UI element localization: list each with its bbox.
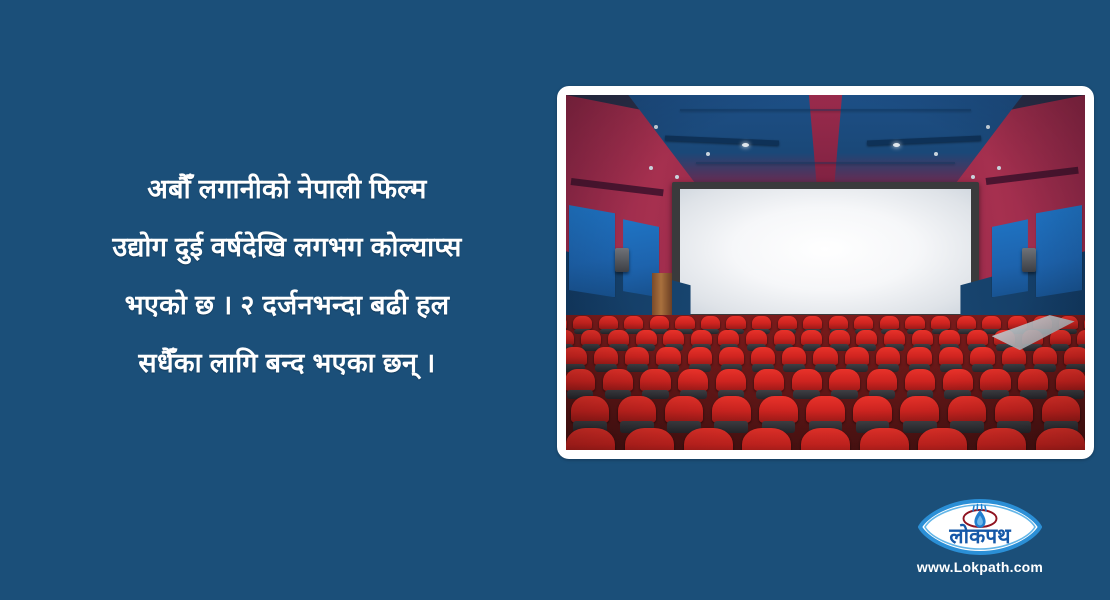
- site-logo[interactable]: लोकपथ www.Lokpath.com: [896, 498, 1064, 575]
- logo-brand-text: लोकपथ: [948, 523, 1012, 548]
- eye-with-flame-icon: लोकपथ: [918, 498, 1042, 556]
- photo-frame: [557, 86, 1094, 459]
- projection-screen: [680, 189, 972, 314]
- seat-row: [566, 428, 1085, 450]
- downlight-6: [893, 143, 900, 147]
- seat-row: [566, 396, 1085, 423]
- headline-line-4: सधैँका लागि बन्द भएका छन् ।: [22, 334, 552, 392]
- seat-row: [566, 369, 1085, 391]
- headline-line-1: अबौँ लगानीको नेपाली फिल्म: [22, 160, 552, 218]
- wall-fixture-right-2: [971, 175, 975, 179]
- seating-area: [566, 315, 1085, 450]
- cinema-hall-photo: [566, 95, 1085, 450]
- ceiling-grid-line-1: [680, 109, 971, 111]
- seat-row: [566, 316, 1085, 329]
- wall-fixture-right: [997, 166, 1001, 170]
- wall-fixture-left: [649, 166, 653, 170]
- speaker-right: [1022, 248, 1036, 272]
- seat-row: [566, 347, 1085, 365]
- acoustic-panel-left-far: [569, 205, 616, 297]
- ceiling-fixture-3: [706, 152, 710, 156]
- headline-line-3: भएको छ । २ दर्जनभन्दा बढी हल: [22, 276, 552, 334]
- headline-line-2: उद्योग दुई वर्षदेखि लगभग कोल्याप्स: [22, 218, 552, 276]
- screen-frame: [672, 182, 978, 324]
- logo-url-text[interactable]: www.Lokpath.com: [896, 559, 1064, 575]
- speaker-left: [615, 248, 629, 272]
- wall-fixture-left-2: [675, 175, 679, 179]
- ceiling-grid-line-2: [696, 162, 956, 164]
- poster-canvas: अबौँ लगानीको नेपाली फिल्म उद्योग दुई वर्…: [0, 0, 1110, 600]
- acoustic-panel-right-far: [1036, 205, 1083, 297]
- headline-text-block: अबौँ लगानीको नेपाली फिल्म उद्योग दुई वर्…: [22, 160, 552, 392]
